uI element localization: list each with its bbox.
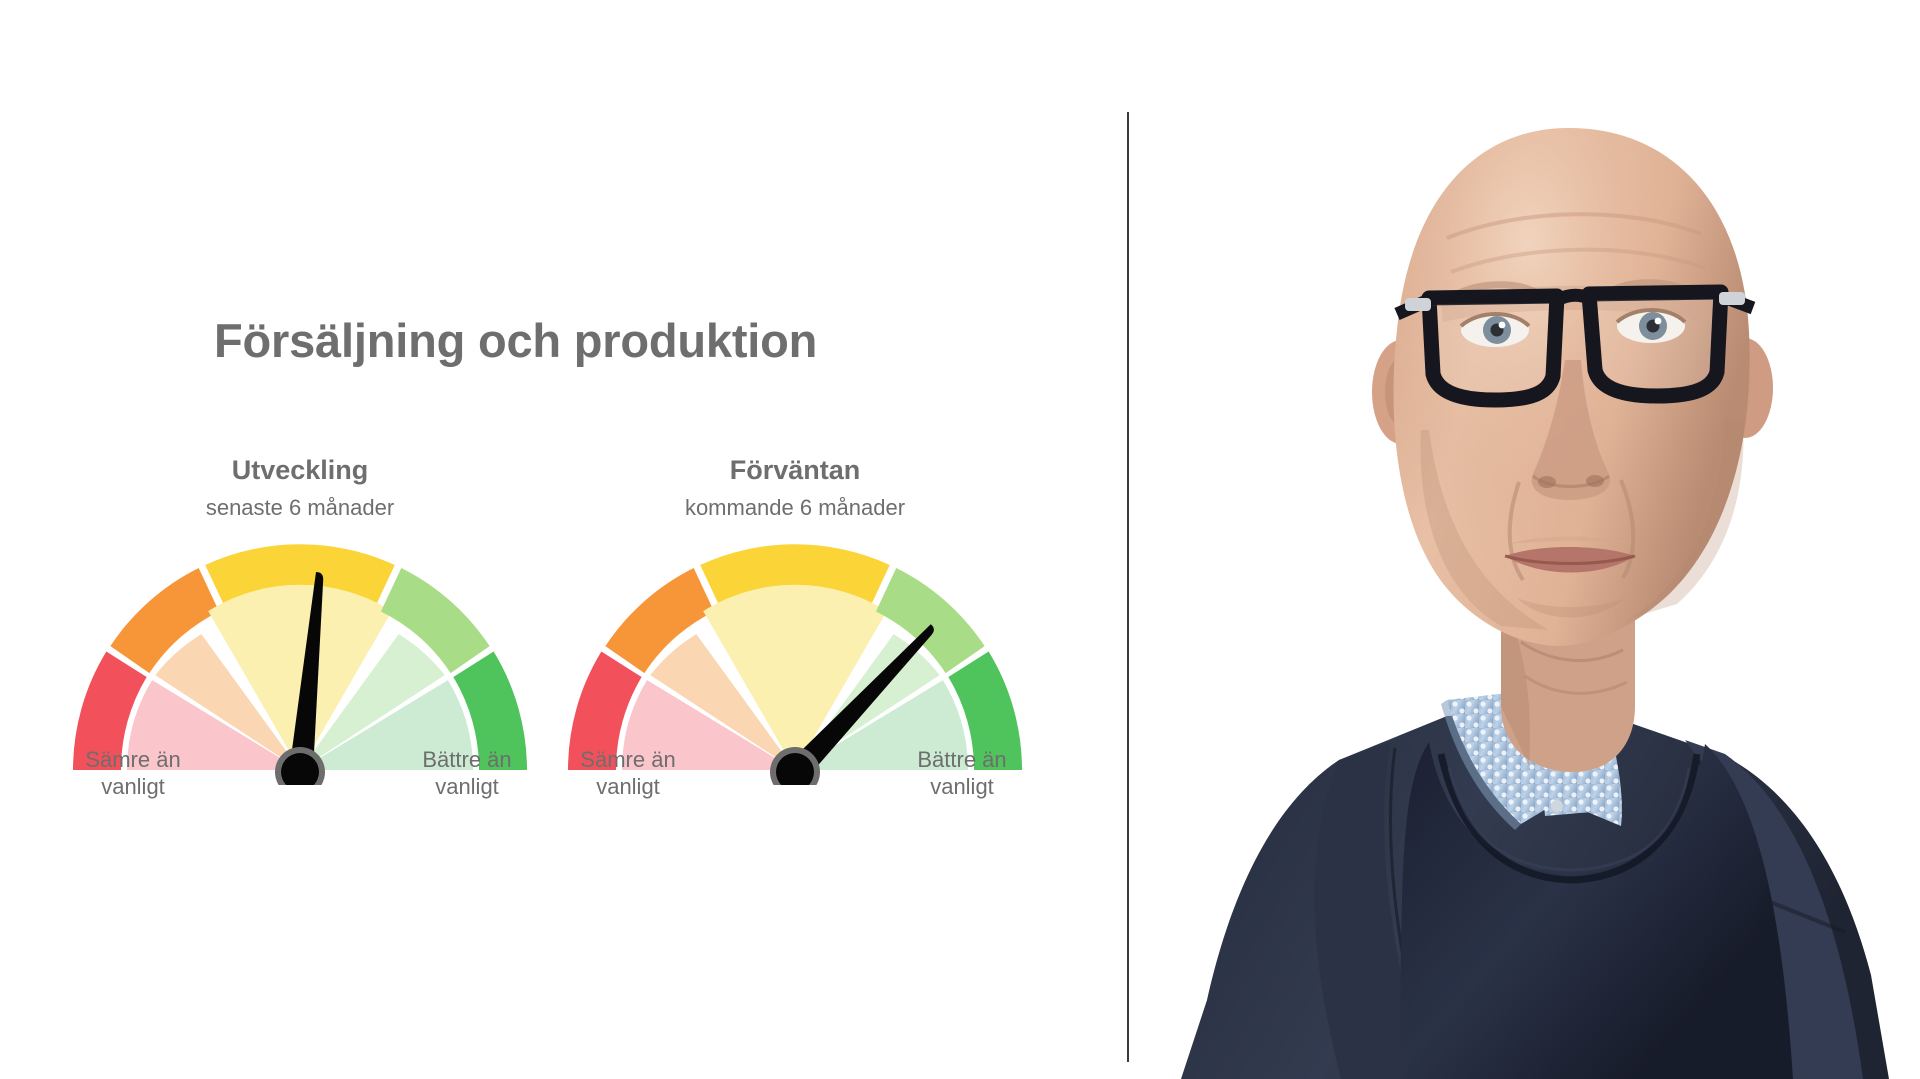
portrait-photo bbox=[1129, 0, 1920, 1079]
gauge-min-label: Sämre än vanligt bbox=[562, 747, 694, 801]
gauge-subheading: kommande 6 månader bbox=[560, 495, 1030, 521]
gauge-heading: Utveckling bbox=[65, 455, 535, 486]
gauge-forvantan: Förväntan kommande 6 månader bbox=[560, 455, 1030, 855]
gauge-utveckling: Utveckling senaste 6 månader bbox=[65, 455, 535, 855]
gauge-subheading: senaste 6 månader bbox=[65, 495, 535, 521]
gauge-max-label: Bättre än vanligt bbox=[896, 747, 1028, 801]
gauge-heading: Förväntan bbox=[560, 455, 1030, 486]
portrait-panel bbox=[1129, 0, 1920, 1079]
slide-canvas: Försäljning och produktion Utveckling se… bbox=[0, 0, 1920, 1079]
gauge-max-label: Bättre än vanligt bbox=[401, 747, 533, 801]
gauge-segments bbox=[568, 544, 1022, 770]
page-title: Försäljning och produktion bbox=[214, 313, 817, 368]
gauge-min-label: Sämre än vanligt bbox=[67, 747, 199, 801]
chart-panel: Försäljning och produktion Utveckling se… bbox=[0, 0, 1127, 1079]
